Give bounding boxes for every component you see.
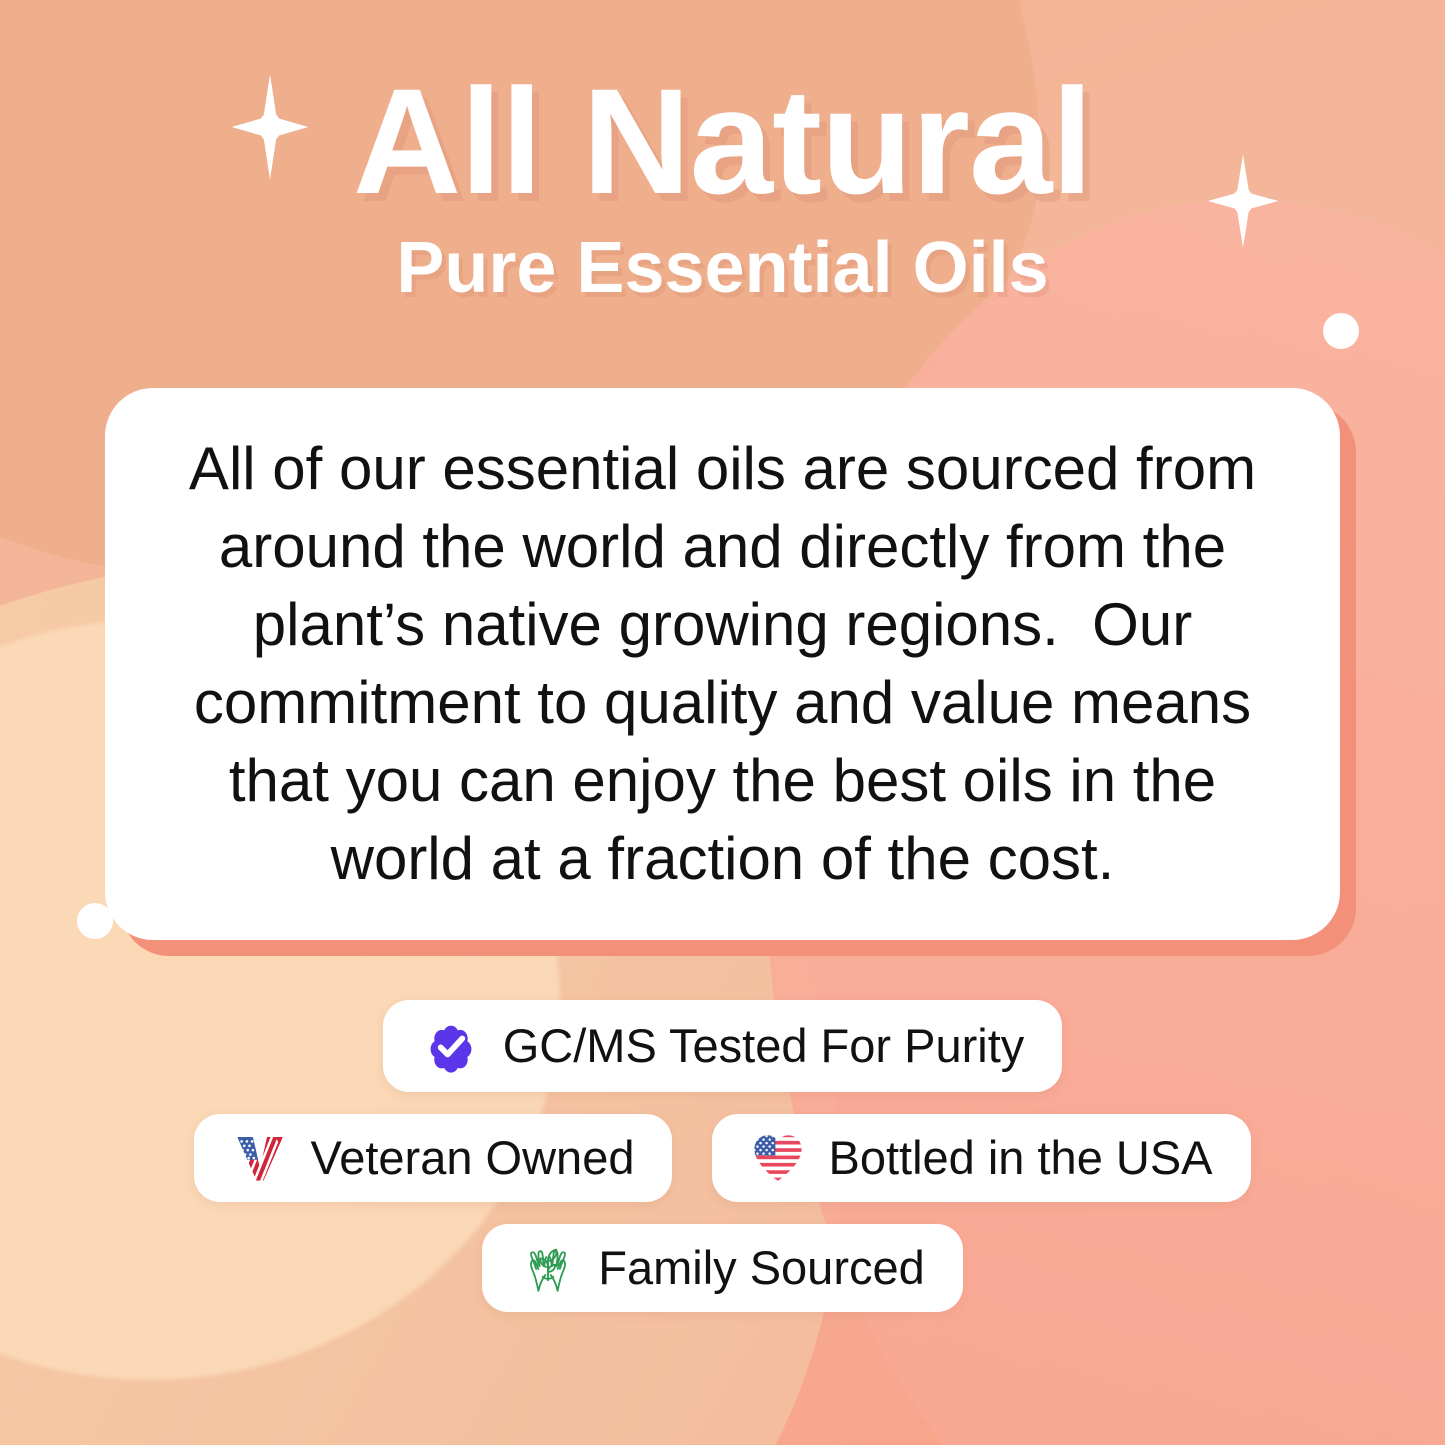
promo-poster: All Natural Pure Essential Oils All of o… — [0, 0, 1445, 1445]
badge-label: Bottled in the USA — [828, 1132, 1212, 1184]
chevron-usa-flag-icon — [232, 1130, 288, 1186]
badge-row-1: GC/MS Tested For Purity — [0, 1000, 1445, 1092]
hands-holding-seedling-icon — [520, 1240, 576, 1296]
badge-label: Family Sourced — [598, 1242, 925, 1294]
badge-row-3: Family Sourced — [0, 1224, 1445, 1312]
page-subtitle: Pure Essential Oils — [0, 229, 1445, 308]
badge-family-sourced[interactable]: Family Sourced — [482, 1224, 963, 1312]
trust-badge-group: GC/MS Tested For Purity — [0, 1000, 1445, 1334]
badge-label: GC/MS Tested For Purity — [503, 1020, 1025, 1072]
badge-veteran-owned[interactable]: Veteran Owned — [194, 1114, 672, 1202]
statement-card-wrapper: All of our essential oils are sourced fr… — [105, 388, 1340, 940]
statement-card: All of our essential oils are sourced fr… — [105, 388, 1340, 940]
badge-bottled-in-usa[interactable]: Bottled in the USA — [712, 1114, 1250, 1202]
badge-label: Veteran Owned — [310, 1132, 634, 1184]
heart-usa-flag-icon — [750, 1130, 806, 1186]
hero-heading-block: All Natural Pure Essential Oils — [0, 62, 1445, 308]
badge-row-2: Veteran Owned — [0, 1114, 1445, 1202]
verified-check-badge-icon — [421, 1016, 481, 1076]
badge-gcms-tested[interactable]: GC/MS Tested For Purity — [383, 1000, 1063, 1092]
page-title: All Natural — [0, 62, 1445, 221]
statement-text: All of our essential oils are sourced fr… — [165, 430, 1280, 898]
decorative-dot — [1323, 313, 1359, 349]
